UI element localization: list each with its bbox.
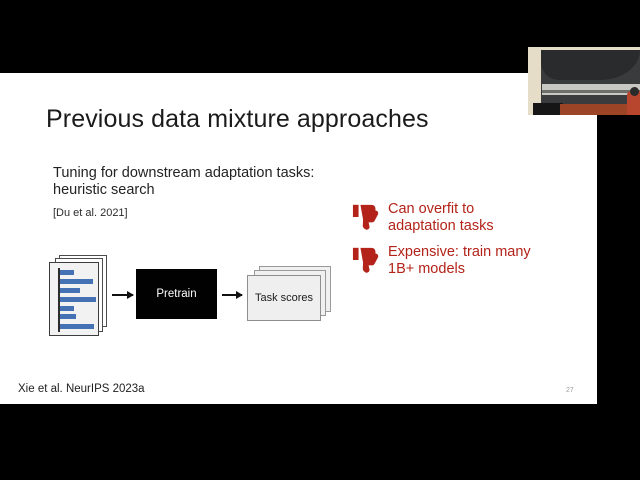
subtitle-line-2: heuristic search [53,182,314,199]
task-scores-stack: Task scores [245,266,337,324]
list-item: Can overfit to adaptation tasks [352,200,587,234]
data-mixture-document-icon [48,255,110,337]
document-sheet-front [49,262,99,336]
thumbs-down-icon [352,245,382,275]
task-scores-label: Task scores [255,292,313,304]
bar-chart-bar [60,314,76,319]
page-number: 27 [566,387,574,394]
webcam-ledge-shadow [542,90,640,93]
document-sheet-back [59,255,107,327]
thumbs-down-icon [352,202,382,232]
bar-chart-bar [60,297,96,302]
arrow-right-icon [112,294,133,296]
bar-chart-axis [58,268,60,332]
document-sheet-middle [55,258,103,332]
bullet-line-1: Can overfit to [388,201,474,217]
task-card-middle [254,270,326,316]
pretrain-label: Pretrain [156,288,196,300]
bullet-text: Expensive: train many 1B+ models [388,243,531,277]
bar-chart-bar [60,306,74,311]
webcam-desk-shadow [533,103,563,115]
presentation-slide: Previous data mixture approaches Tuning … [0,73,597,404]
bar-chart-bar [60,270,74,275]
bullet-text: Can overfit to adaptation tasks [388,200,494,234]
list-item: Expensive: train many 1B+ models [352,243,587,277]
arrow-right-icon [222,294,242,296]
bar-chart-bar [60,279,93,284]
bullet-line-2: adaptation tasks [388,218,494,234]
task-card-back [259,266,331,312]
footer-reference: Xie et al. NeurIPS 2023a [18,383,145,395]
pretrain-stage-box: Pretrain [136,269,217,319]
webcam-presenter-head [630,87,639,96]
page-title: Previous data mixture approaches [46,105,429,134]
bar-chart-bar [60,288,80,293]
video-frame: Previous data mixture approaches Tuning … [0,0,640,480]
citation-text: [Du et al. 2021] [53,207,128,219]
presenter-webcam [528,47,640,115]
bullet-line-1: Expensive: train many [388,244,531,260]
slide-subtitle: Tuning for downstream adaptation tasks: … [53,165,314,199]
bar-chart-bar [60,324,94,329]
drawbacks-list: Can overfit to adaptation tasks Expensiv… [352,200,587,286]
bullet-line-2: 1B+ models [388,261,465,277]
subtitle-line-1: Tuning for downstream adaptation tasks: [53,165,314,182]
task-card-front: Task scores [247,275,321,321]
